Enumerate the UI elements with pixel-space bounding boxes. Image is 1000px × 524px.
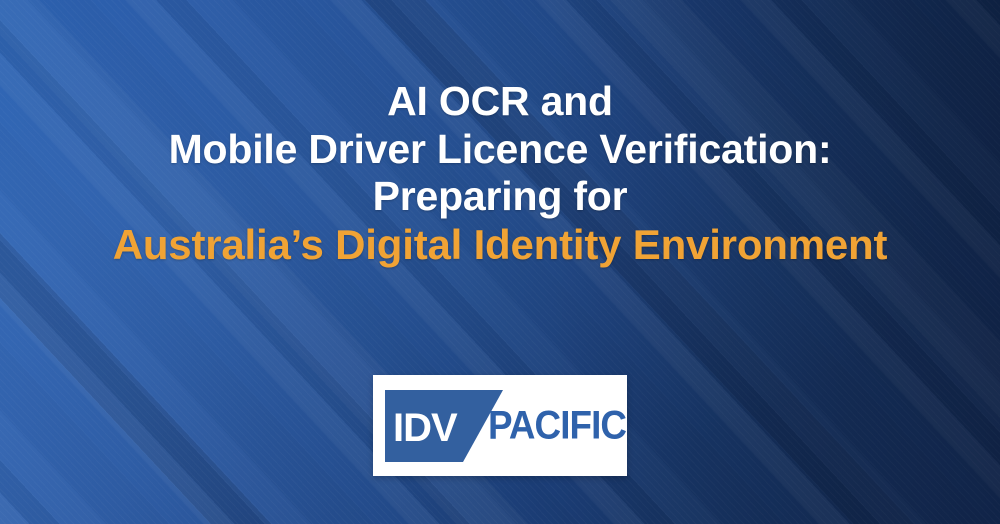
title-line-1: AI OCR and <box>113 78 888 126</box>
title-line-3: Preparing for <box>113 173 888 221</box>
logo-inner: IDV PACIFIC <box>385 390 627 462</box>
banner-title: AI OCR and Mobile Driver Licence Verific… <box>113 78 888 269</box>
logo-wordmark: PACIFIC <box>488 403 626 448</box>
banner-content: AI OCR and Mobile Driver Licence Verific… <box>0 0 1000 524</box>
title-line-2: Mobile Driver Licence Verification: <box>113 126 888 174</box>
logo-mark-text: IDV <box>393 406 458 450</box>
title-line-4-highlight: Australia’s Digital Identity Environment <box>113 221 888 270</box>
promo-banner: AI OCR and Mobile Driver Licence Verific… <box>0 0 1000 524</box>
idv-pacific-logo: IDV PACIFIC <box>373 375 627 476</box>
